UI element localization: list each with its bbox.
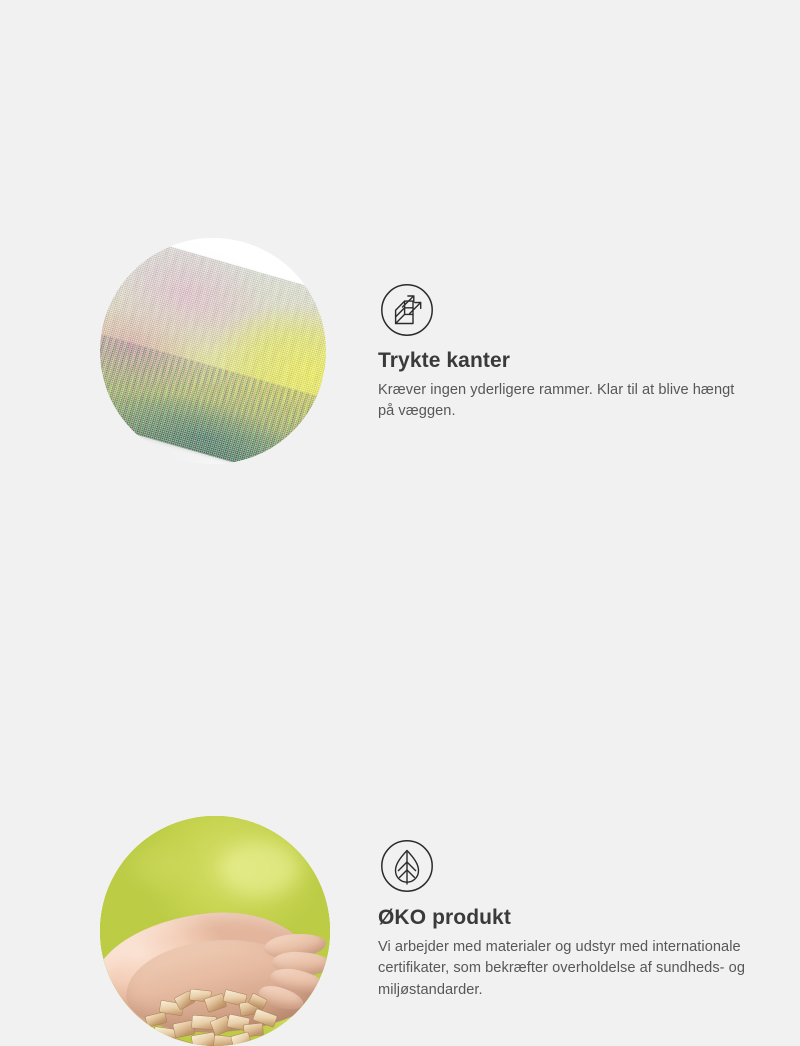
leaf-icon bbox=[380, 839, 434, 893]
feature-title: ØKO produkt bbox=[378, 905, 750, 930]
feature-block-eco-product: ØKO produkt Vi arbejder med materialer o… bbox=[0, 400, 800, 660]
feature-text-eco-product: ØKO produkt Vi arbejder med materialer o… bbox=[378, 905, 750, 1001]
bokeh-spot bbox=[130, 846, 186, 886]
bokeh-spot bbox=[220, 842, 300, 896]
wood-chips-hands-photo bbox=[100, 816, 330, 1046]
feature-block-printed-edges: Trykte kanter Kræver ingen yderligere ra… bbox=[0, 110, 800, 380]
feature-title: Trykte kanter bbox=[378, 348, 750, 373]
canvas-folded-edge-icon bbox=[380, 283, 434, 337]
cupped-hands bbox=[100, 900, 330, 1032]
feature-description: Vi arbejder med materialer og udstyr med… bbox=[378, 937, 750, 1000]
product-features-panel: Trykte kanter Kræver ingen yderligere ra… bbox=[0, 0, 800, 800]
wood-chips bbox=[140, 988, 292, 1046]
